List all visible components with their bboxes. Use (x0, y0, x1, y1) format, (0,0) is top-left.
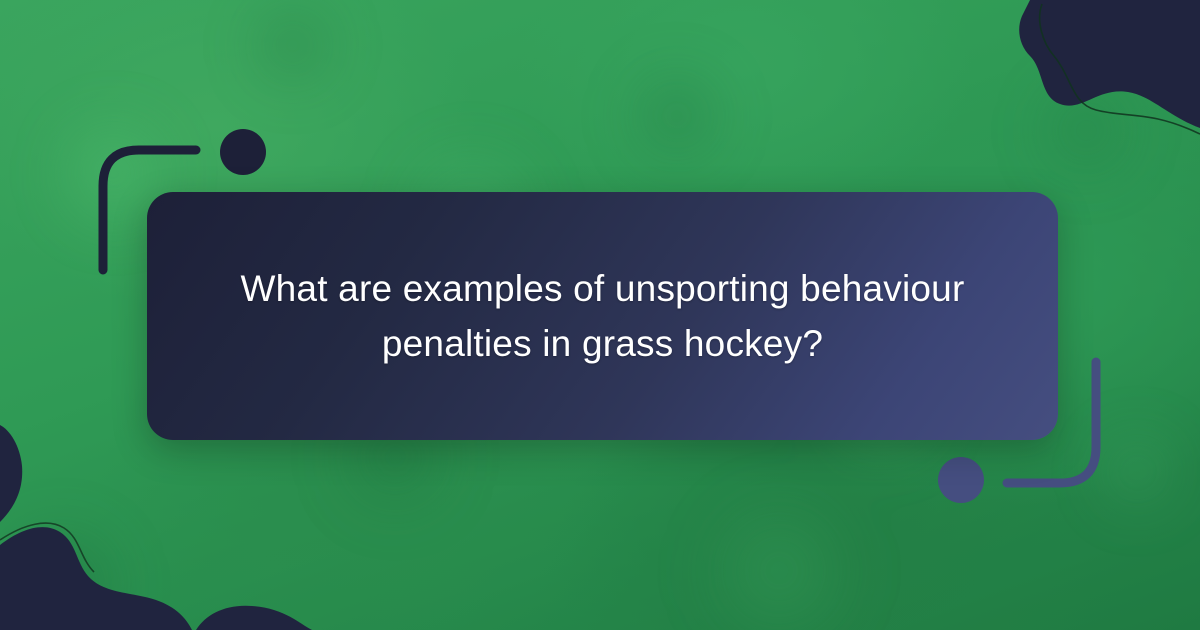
question-card: What are examples of unsporting behaviou… (147, 192, 1058, 440)
question-title: What are examples of unsporting behaviou… (193, 261, 1012, 372)
share-card-canvas: What are examples of unsporting behaviou… (0, 0, 1200, 630)
